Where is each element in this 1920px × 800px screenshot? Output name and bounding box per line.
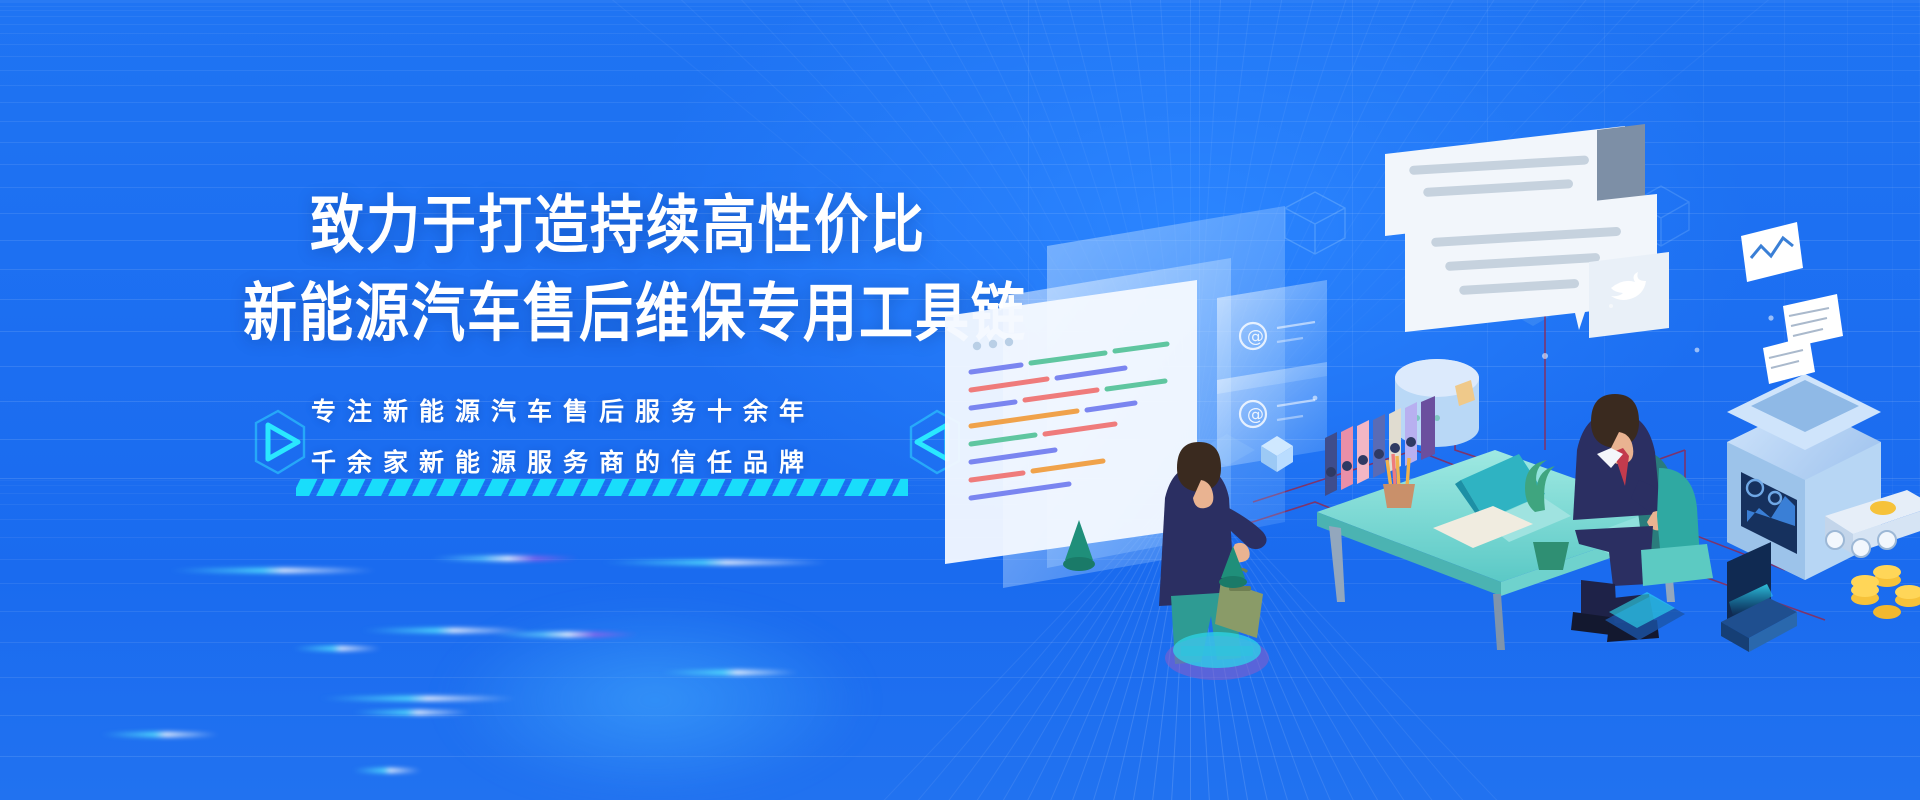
headline-line-2: 新能源汽车售后维保专用工具链 bbox=[243, 261, 1027, 354]
floating-cube bbox=[1285, 192, 1345, 254]
subheadline-line-1: 专注新能源汽车售后服务十余年 bbox=[311, 392, 815, 428]
copy-block: 致力于打造持续高性价比 新能源汽车售后维保专用工具链 专注新能源汽车售后服务十余… bbox=[0, 0, 1010, 800]
diagonal-stripe-divider bbox=[296, 479, 908, 496]
svg-text:@: @ bbox=[1247, 327, 1264, 347]
svg-text:@: @ bbox=[1247, 405, 1264, 425]
subheadline-line-2: 千余家新能源服务商的信任品牌 bbox=[311, 443, 815, 479]
document-sheets bbox=[1741, 222, 1843, 384]
play-right-arrow-icon bbox=[248, 409, 312, 475]
bird-icon-card bbox=[1589, 252, 1669, 338]
headline-line-1: 致力于打造持续高性价比 bbox=[310, 173, 926, 266]
hero-banner: 致力于打造持续高性价比 新能源汽车售后维保专用工具链 专注新能源汽车售后服务十余… bbox=[0, 0, 1920, 800]
gold-coin-stack bbox=[1851, 565, 1920, 619]
code-lines-panel bbox=[945, 280, 1197, 564]
isometric-office-illustration: @ @ bbox=[985, 150, 1920, 670]
